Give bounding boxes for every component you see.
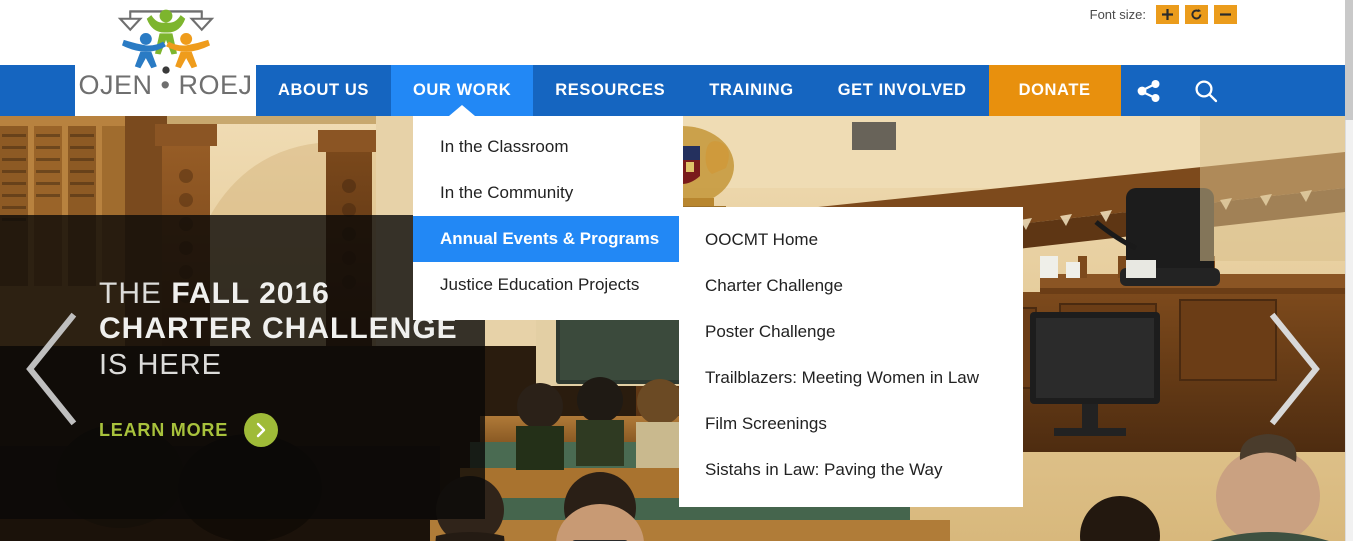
hero-line2: CHARTER CHALLENGE — [99, 311, 458, 347]
submenu-item-label: Poster Challenge — [705, 322, 835, 342]
font-size-controls: Font size: — [1090, 5, 1237, 24]
nav-label: DONATE — [1019, 81, 1091, 100]
carousel-prev-button[interactable] — [22, 311, 78, 432]
plus-icon — [1161, 8, 1174, 21]
share-icon — [1136, 78, 1162, 104]
dropdown-item-in-the-community[interactable]: In the Community — [413, 170, 683, 216]
dropdown-item-label: In the Community — [440, 183, 573, 203]
submenu-item-label: Film Screenings — [705, 414, 827, 434]
our-work-dropdown: In the Classroom In the Community Annual… — [413, 116, 683, 320]
dropdown-item-label: Annual Events & Programs — [440, 229, 659, 249]
nav-item-training[interactable]: TRAINING — [687, 65, 816, 116]
learn-more-label: LEARN MORE — [99, 420, 228, 441]
page-scrollbar-thumb[interactable] — [1345, 0, 1353, 120]
minus-icon — [1219, 8, 1232, 21]
nav-label: ABOUT US — [278, 81, 369, 100]
dropdown-item-in-the-classroom[interactable]: In the Classroom — [413, 124, 683, 170]
logo-wordmark: OJEN • ROEJ — [79, 70, 253, 101]
submenu-item-trailblazers[interactable]: Trailblazers: Meeting Women in Law — [679, 355, 1023, 401]
ojen-logo-icon — [111, 2, 221, 74]
share-button[interactable] — [1121, 65, 1178, 116]
dropdown-item-label: In the Classroom — [440, 137, 569, 157]
dropdown-item-label: Justice Education Projects — [440, 275, 639, 295]
nav-item-get-involved[interactable]: GET INVOLVED — [816, 65, 989, 116]
submenu-item-film-screenings[interactable]: Film Screenings — [679, 401, 1023, 447]
page-root: THE FALL 2016 CHARTER CHALLENGE IS HERE … — [0, 0, 1353, 541]
submenu-item-oocmt-home[interactable]: OOCMT Home — [679, 217, 1023, 263]
submenu-item-label: Sistahs in Law: Paving the Way — [705, 460, 943, 480]
dropdown-item-justice-education-projects[interactable]: Justice Education Projects — [413, 262, 683, 308]
search-icon — [1193, 78, 1219, 104]
hero-line1-light: THE — [99, 277, 162, 310]
font-size-decrease-button[interactable] — [1214, 5, 1237, 24]
annual-events-submenu: OOCMT Home Charter Challenge Poster Chal… — [679, 207, 1023, 507]
nav-label: GET INVOLVED — [838, 81, 967, 100]
arrow-right-circle-icon — [244, 413, 278, 447]
nav-label: TRAINING — [709, 81, 794, 100]
font-size-reset-button[interactable] — [1185, 5, 1208, 24]
nav-item-about-us[interactable]: ABOUT US — [256, 65, 391, 116]
submenu-item-label: OOCMT Home — [705, 230, 818, 250]
submenu-item-charter-challenge[interactable]: Charter Challenge — [679, 263, 1023, 309]
nav-label: OUR WORK — [413, 81, 511, 100]
font-size-increase-button[interactable] — [1156, 5, 1179, 24]
submenu-item-sistahs-in-law[interactable]: Sistahs in Law: Paving the Way — [679, 447, 1023, 493]
site-logo[interactable]: OJEN • ROEJ — [75, 0, 256, 116]
hero-line1-bold: FALL 2016 — [171, 277, 330, 310]
nav-item-resources[interactable]: RESOURCES — [533, 65, 687, 116]
nav-item-our-work[interactable]: OUR WORK — [391, 65, 533, 116]
hero-line3: IS HERE — [99, 347, 458, 383]
reset-icon — [1190, 8, 1203, 21]
submenu-item-poster-challenge[interactable]: Poster Challenge — [679, 309, 1023, 355]
nav-label: RESOURCES — [555, 81, 665, 100]
nav-item-donate[interactable]: DONATE — [989, 65, 1121, 116]
carousel-next-button[interactable] — [1268, 311, 1324, 432]
submenu-item-label: Charter Challenge — [705, 276, 843, 296]
font-size-label: Font size: — [1090, 7, 1146, 22]
learn-more-button[interactable]: LEARN MORE — [99, 413, 278, 447]
hero-headline: THE FALL 2016 CHARTER CHALLENGE IS HERE — [99, 276, 458, 384]
dropdown-item-annual-events-and-programs[interactable]: Annual Events & Programs — [413, 216, 683, 262]
search-button[interactable] — [1178, 65, 1235, 116]
submenu-item-label: Trailblazers: Meeting Women in Law — [705, 368, 979, 388]
